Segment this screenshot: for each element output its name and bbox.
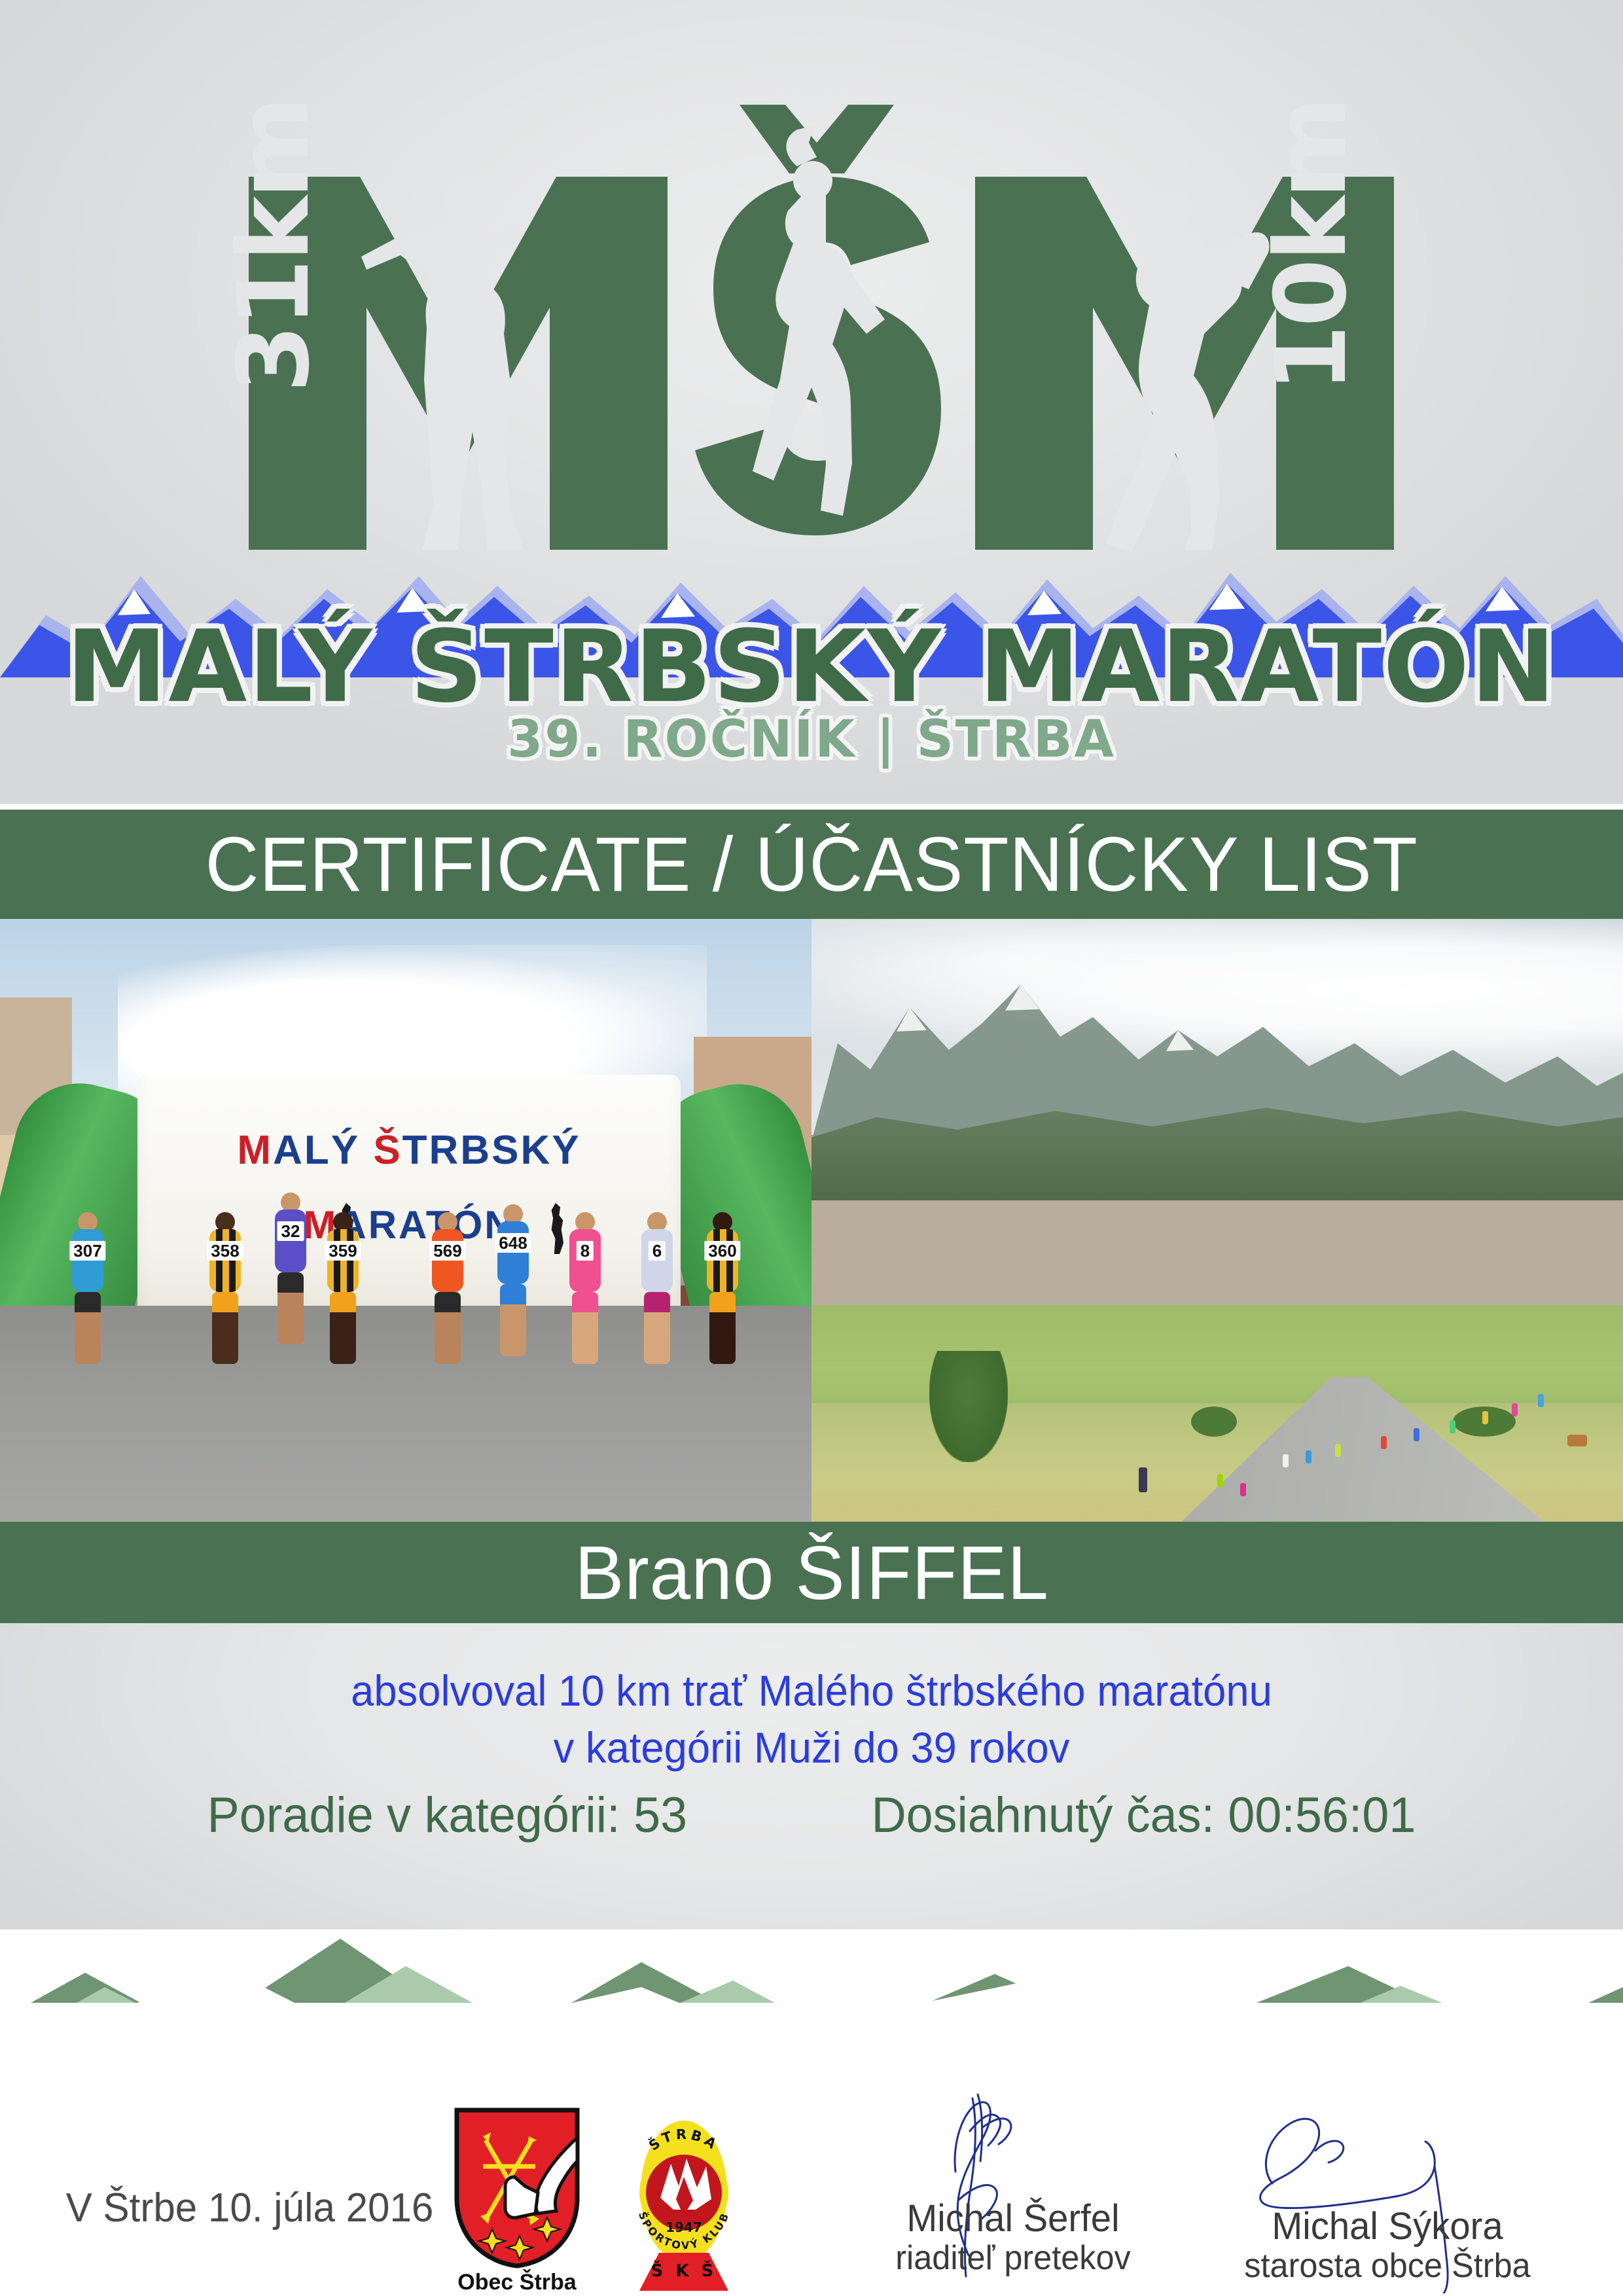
distant-runner: [1381, 1436, 1387, 1449]
spectator: [1139, 1467, 1147, 1492]
signature-role: starosta obce Štrba: [1222, 2247, 1552, 2286]
tree: [929, 1351, 1008, 1462]
results-row: Poradie v kategórii: 53 Dosiahnutý čas: …: [24, 1787, 1599, 1844]
distant-runner: [1335, 1444, 1341, 1457]
photo-strip: MALÝ ŠTRBSKÝ MARATÓN ŠTART - CIEĽ 307 35…: [0, 919, 1623, 1522]
category-rank: Poradie v kategórii: 53: [207, 1787, 688, 1844]
description-line-1: absolvoval 10 km trať Malého štrbského m…: [33, 1662, 1591, 1719]
runner: 648: [497, 1204, 529, 1356]
bush: [1191, 1407, 1237, 1437]
distant-runner: [1217, 1474, 1223, 1487]
distant-runner: [1538, 1394, 1544, 1407]
certificate-page: 31km 10km: [0, 0, 1623, 2296]
signature-role: riaditeľ pretekov: [848, 2239, 1178, 2278]
distant-runner: [1240, 1483, 1246, 1496]
runner: 359: [327, 1212, 359, 1364]
details-section: absolvoval 10 km trať Malého štrbského m…: [0, 1623, 1623, 1929]
bib-number: 359: [325, 1241, 361, 1261]
runner-crowd: 307 358 32 359: [0, 1285, 811, 1522]
arch-banner-line1: MALÝ ŠTRBSKÝ: [137, 1127, 681, 1174]
signature-name: Michal Šerfel: [848, 2199, 1178, 2239]
tatra-mountains: [811, 945, 1623, 1141]
finish-time: Dosiahnutý čas: 00:56:01: [871, 1787, 1416, 1844]
signature-mark: [1217, 2097, 1558, 2221]
runner: 6: [641, 1212, 673, 1364]
bib-number: 358: [207, 1241, 243, 1261]
place-and-date: V Štrbe 10. júla 2016: [66, 2185, 434, 2231]
village-strba: [811, 1200, 1623, 1318]
bib-number: 8: [577, 1241, 594, 1261]
bib-number: 360: [704, 1241, 740, 1261]
runner: 8: [569, 1212, 601, 1364]
bib-number: 569: [429, 1241, 465, 1261]
runner: 307: [72, 1212, 103, 1364]
signature-block-mayor: Michal Sýkora starosta obce Štrba: [1217, 2207, 1558, 2286]
bib-number: 307: [69, 1241, 105, 1261]
svg-text:Š K Š: Š K Š: [651, 2260, 717, 2281]
runner: 32: [275, 1193, 306, 1344]
bib-number: 6: [649, 1241, 666, 1261]
distant-runner: [1306, 1450, 1311, 1463]
distant-runner: [1512, 1403, 1518, 1416]
event-subtitle: 39. ROČNÍK | ŠTRBA: [0, 710, 1623, 769]
event-title: MALÝ ŠTRBSKÝ MARATÓN: [0, 609, 1623, 725]
sks-club-crest: 1947 ŠTRBA ŠPORTOVÝ KLUB Š K Š: [618, 2101, 749, 2291]
participant-name: Brano ŠIFFEL: [575, 1529, 1049, 1617]
signature-block-director: Michal Šerfel riaditeľ pretekov: [843, 2199, 1183, 2278]
svg-text:31km: 31km: [217, 99, 331, 393]
photo-course-panorama: [811, 919, 1623, 1522]
distant-runner: [1450, 1420, 1455, 1433]
distant-runner: [1414, 1428, 1419, 1441]
cow: [1567, 1435, 1587, 1446]
participation-description: absolvoval 10 km trať Malého štrbského m…: [33, 1662, 1591, 1776]
certificate-heading-band: CERTIFICATE / ÚČASTNÍCKY LIST: [0, 810, 1623, 919]
svg-text:10km: 10km: [1255, 99, 1368, 393]
photo-start-line: MALÝ ŠTRBSKÝ MARATÓN ŠTART - CIEĽ 307 35…: [0, 919, 811, 1522]
crest-caption: Obec Štrba: [452, 2270, 582, 2295]
msm-wordmark: 31km 10km: [0, 26, 1623, 576]
signature-name: Michal Sýkora: [1222, 2207, 1552, 2247]
distant-runner: [1482, 1411, 1488, 1424]
bib-number: 32: [277, 1221, 304, 1241]
participant-name-band: Brano ŠIFFEL: [0, 1522, 1623, 1623]
distant-runner: [1283, 1454, 1289, 1467]
runner: 569: [432, 1212, 463, 1364]
footer: V Štrbe 10. júla 2016: [0, 2003, 1623, 2296]
bib-number: 648: [495, 1233, 531, 1253]
obec-strba-crest: Obec Štrba: [452, 2106, 582, 2289]
logo-header: 31km 10km: [0, 0, 1623, 804]
club-year: 1947: [666, 2219, 702, 2235]
runner: 358: [209, 1212, 241, 1364]
runner: 360: [707, 1212, 738, 1364]
certificate-heading: CERTIFICATE / ÚČASTNÍCKY LIST: [205, 820, 1418, 909]
signature-mark: [843, 2089, 1183, 2214]
description-line-2: v kategórii Muži do 39 rokov: [33, 1719, 1591, 1776]
